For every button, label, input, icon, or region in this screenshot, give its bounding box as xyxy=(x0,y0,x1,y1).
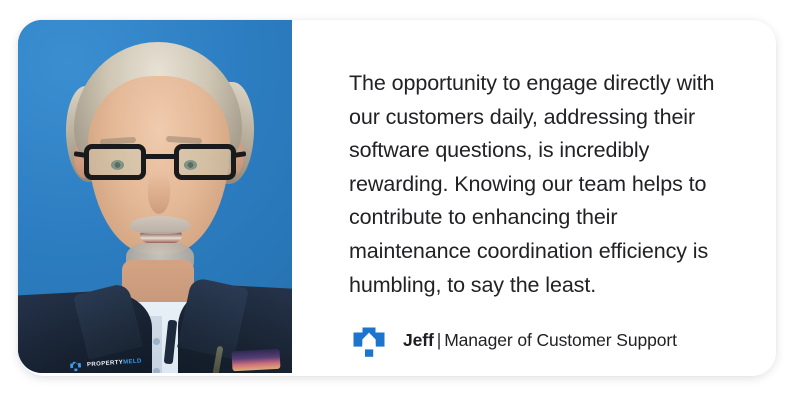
nose xyxy=(148,172,170,214)
attribution-name: Jeff xyxy=(403,330,434,350)
property-meld-logo-icon xyxy=(349,320,389,360)
eyeglass-lens-left xyxy=(84,144,146,180)
chest-logo-wordmark: PROPERTYMELD xyxy=(87,358,142,368)
patagonia-brand-label xyxy=(232,349,281,371)
property-meld-house-icon xyxy=(68,358,84,373)
portrait-panel: PROPERTYMELD xyxy=(18,20,292,373)
eyeglass-lens-right xyxy=(174,144,236,180)
shirt-button xyxy=(153,338,160,345)
attribution-separator: | xyxy=(434,330,444,350)
attribution-role: Manager of Customer Support xyxy=(444,330,677,350)
chest-logo-word-one: PROPERTY xyxy=(87,359,124,368)
testimonial-attribution: Jeff|Manager of Customer Support xyxy=(349,320,677,360)
testimonial-content-panel: The opportunity to engage directly with … xyxy=(292,20,776,376)
testimonial-card-stage: PROPERTYMELD The opportunity to engage d… xyxy=(0,0,800,405)
mustache xyxy=(130,216,190,234)
attribution-text: Jeff|Manager of Customer Support xyxy=(403,330,677,351)
testimonial-quote: The opportunity to engage directly with … xyxy=(349,67,726,302)
shirt-button xyxy=(153,368,160,373)
eyeglass-bridge xyxy=(144,154,176,159)
chest-logo-word-two: MELD xyxy=(123,358,142,365)
